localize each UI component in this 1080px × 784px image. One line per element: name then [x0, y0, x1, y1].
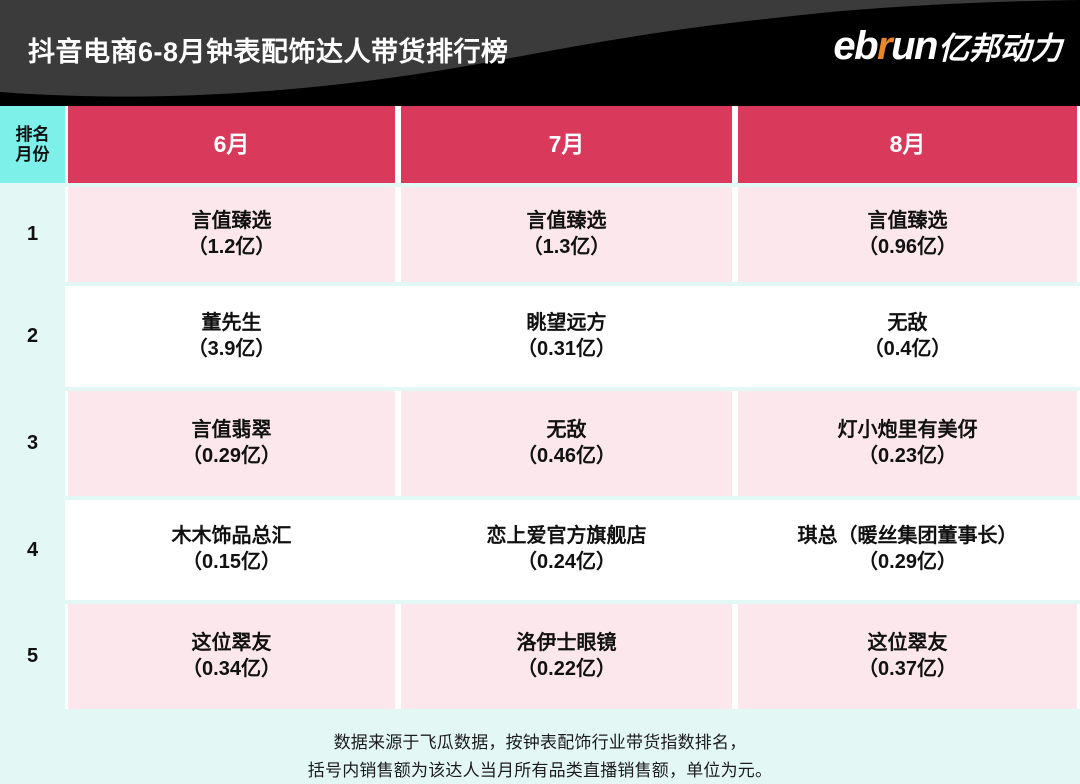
table-cell-august: 这位翠友 （0.37亿）	[735, 604, 1080, 709]
column-header-july: 7月	[398, 106, 735, 183]
table-row: 1 言值臻选 （1.2亿） 言值臻选 （1.3亿） 言值臻选 （0.96亿）	[0, 187, 1080, 282]
logo-english-text: ebrun	[833, 26, 937, 66]
creator-name: 恋上爱官方旗舰店	[487, 524, 647, 550]
table-row: 3 言值翡翠 （0.29亿） 无敌 （0.46亿） 灯小炮里有美伢 （0.23亿…	[0, 391, 1080, 496]
sales-value: （0.29亿）	[858, 550, 957, 576]
creator-name: 无敌	[888, 311, 928, 337]
logo-un-part: un	[891, 24, 937, 68]
sales-value: （0.15亿）	[182, 550, 281, 576]
sales-value: （0.23亿）	[858, 444, 957, 470]
sales-value: （0.46亿）	[517, 444, 616, 470]
page-title: 抖音电商6-8月钟表配饰达人带货排行榜	[28, 30, 509, 69]
sales-value: （1.2亿）	[188, 235, 276, 261]
ebrun-logo: ebrun 亿邦动力	[833, 26, 1062, 66]
sales-value: （3.9亿）	[188, 337, 276, 363]
sales-value: （0.4亿）	[864, 337, 952, 363]
table-cell-june: 董先生 （3.9亿）	[65, 286, 398, 387]
creator-name: 眺望远方	[527, 311, 607, 337]
rank-cell: 3	[0, 391, 65, 496]
logo-eb-part: eb	[833, 24, 877, 68]
table-cell-june: 言值臻选 （1.2亿）	[65, 187, 398, 282]
footer-note-line-2: 括号内销售额为该达人当月所有品类直播销售额，单位为元。	[0, 757, 1080, 784]
table-cell-august: 言值臻选 （0.96亿）	[735, 187, 1080, 282]
table-row: 4 木木饰品总汇 （0.15亿） 恋上爱官方旗舰店 （0.24亿） 琪总（暖丝集…	[0, 500, 1080, 600]
creator-name: 言值翡翠	[192, 418, 272, 444]
creator-name: 木木饰品总汇	[172, 524, 292, 550]
column-header-august: 8月	[735, 106, 1080, 183]
sales-value: （0.22亿）	[517, 657, 616, 683]
rank-cell: 1	[0, 187, 65, 282]
rank-cell: 2	[0, 286, 65, 387]
footer-note-line-1: 数据来源于飞瓜数据，按钟表配饰行业带货指数排名，	[0, 729, 1080, 757]
creator-name: 言值臻选	[868, 209, 948, 235]
rank-cell: 4	[0, 500, 65, 600]
table-cell-august: 无敌 （0.4亿）	[735, 286, 1080, 387]
sales-value: （0.96亿）	[858, 235, 957, 261]
creator-name: 这位翠友	[868, 631, 948, 657]
creator-name: 这位翠友	[192, 631, 272, 657]
sales-value: （0.34亿）	[182, 657, 281, 683]
logo-chinese-text: 亿邦动力	[938, 33, 1062, 64]
table-cell-july: 恋上爱官方旗舰店 （0.24亿）	[398, 500, 735, 600]
table-cell-august: 琪总（暖丝集团董事长） （0.29亿）	[735, 500, 1080, 600]
ranking-table: 排名 月份 6月 7月 8月 1 言值臻选 （1.2亿） 言值臻选 （1.3亿）…	[0, 106, 1080, 709]
table-cell-july: 无敌 （0.46亿）	[398, 391, 735, 496]
creator-name: 灯小炮里有美伢	[838, 418, 978, 444]
sales-value: （1.3亿）	[523, 235, 611, 261]
sales-value: （0.29亿）	[182, 444, 281, 470]
sales-value: （0.24亿）	[517, 550, 616, 576]
logo-r-accent: r	[877, 24, 891, 68]
table-cell-august: 灯小炮里有美伢 （0.23亿）	[735, 391, 1080, 496]
table-header-row: 排名 月份 6月 7月 8月	[0, 106, 1080, 183]
table-cell-june: 木木饰品总汇 （0.15亿）	[65, 500, 398, 600]
page-header: 抖音电商6-8月钟表配饰达人带货排行榜 ebrun 亿邦动力	[0, 0, 1080, 106]
sales-value: （0.37亿）	[858, 657, 957, 683]
table-row: 5 这位翠友 （0.34亿） 洛伊士眼镜 （0.22亿） 这位翠友 （0.37亿…	[0, 604, 1080, 709]
table-cell-june: 言值翡翠 （0.29亿）	[65, 391, 398, 496]
table-row: 2 董先生 （3.9亿） 眺望远方 （0.31亿） 无敌 （0.4亿）	[0, 286, 1080, 387]
table-corner-header: 排名 月份	[0, 106, 65, 183]
column-header-june: 6月	[65, 106, 398, 183]
creator-name: 琪总（暖丝集团董事长）	[798, 524, 1018, 550]
creator-name: 言值臻选	[192, 209, 272, 235]
table-cell-june: 这位翠友 （0.34亿）	[65, 604, 398, 709]
sales-value: （0.31亿）	[517, 337, 616, 363]
rank-cell: 5	[0, 604, 65, 709]
creator-name: 言值臻选	[527, 209, 607, 235]
table-cell-july: 眺望远方 （0.31亿）	[398, 286, 735, 387]
table-cell-july: 洛伊士眼镜 （0.22亿）	[398, 604, 735, 709]
footer-notes: 数据来源于飞瓜数据，按钟表配饰行业带货指数排名， 括号内销售额为该达人当月所有品…	[0, 709, 1080, 784]
creator-name: 董先生	[202, 311, 262, 337]
table-cell-july: 言值臻选 （1.3亿）	[398, 187, 735, 282]
infographic-page: 抖音电商6-8月钟表配饰达人带货排行榜 ebrun 亿邦动力 排名 月份 6月 …	[0, 0, 1080, 766]
creator-name: 无敌	[547, 418, 587, 444]
corner-label-rank: 排名	[16, 125, 50, 144]
corner-label-month: 月份	[16, 145, 50, 164]
creator-name: 洛伊士眼镜	[517, 631, 617, 657]
